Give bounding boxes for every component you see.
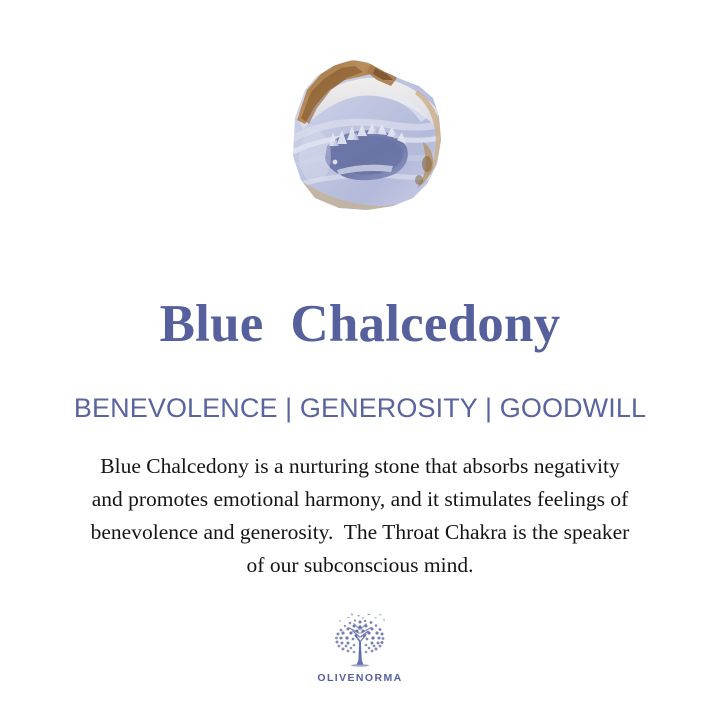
description-line: and promotes emotional harmony, and it s… <box>18 483 702 516</box>
brand-wordmark: OLIVENORMA <box>317 673 402 684</box>
product-info-card: Blue Chalcedony BENEVOLENCE | GENEROSITY… <box>0 0 720 720</box>
description-text: Blue Chalcedony is a nurturing stone tha… <box>18 450 702 582</box>
description-line: Blue Chalcedony is a nurturing stone tha… <box>18 450 702 483</box>
gemstone-image <box>0 46 720 222</box>
page-title: Blue Chalcedony <box>0 296 720 353</box>
brand-logo: OLIVENORMA <box>0 612 720 684</box>
blue-chalcedony-geode-icon <box>267 46 453 218</box>
description-line: of our subconscious mind. <box>18 549 702 582</box>
description-line: benevolence and generosity. The Throat C… <box>18 516 702 549</box>
olive-tree-icon <box>327 612 393 670</box>
keyword-subtitle: BENEVOLENCE | GENEROSITY | GOODWILL <box>0 394 720 424</box>
